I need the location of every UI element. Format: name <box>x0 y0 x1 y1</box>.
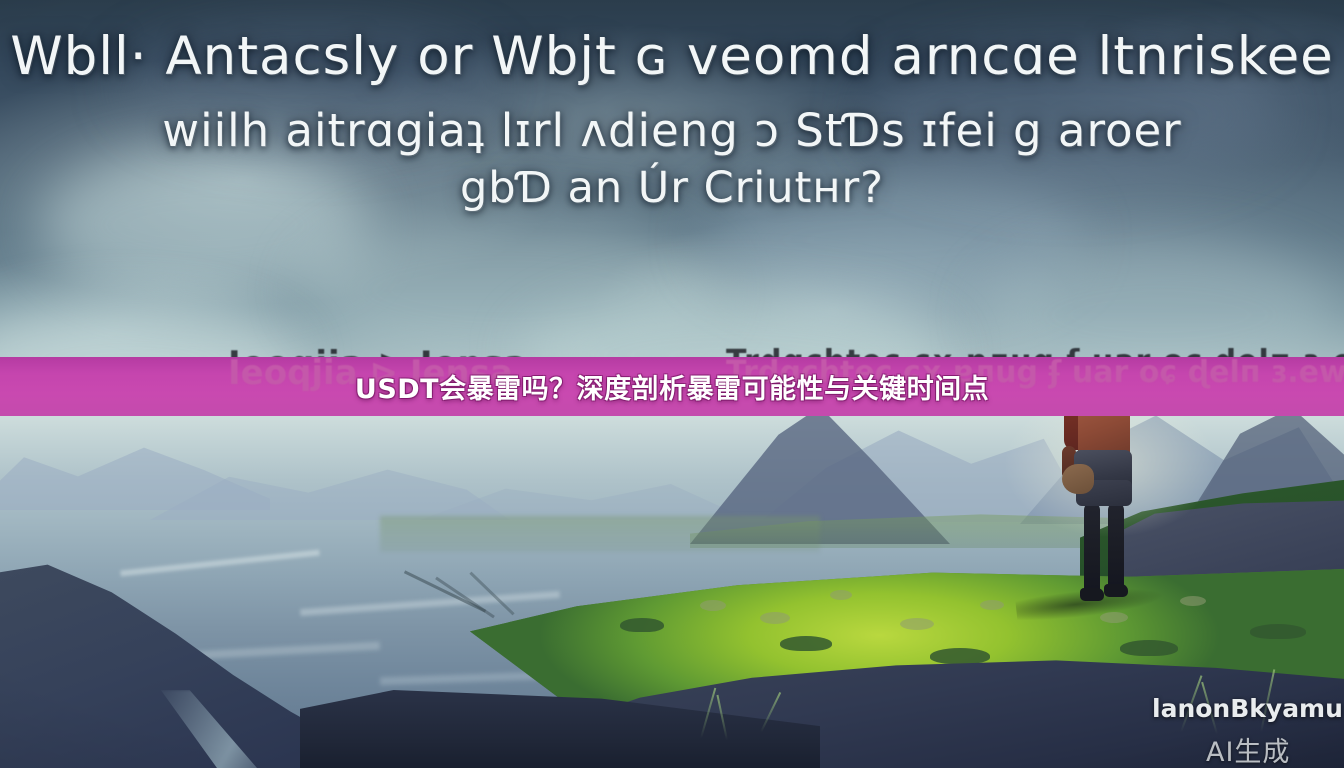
meadow-rock <box>700 600 726 611</box>
meadow-rock <box>830 590 852 600</box>
title-banner: Ieoqjia ⊳ Jensa Trdɑchteɕ ɕʏ ɐлug ʄ uar … <box>0 357 1344 416</box>
grass-tuft <box>1250 624 1306 639</box>
grass-tuft <box>620 618 664 632</box>
ai-generated-watermark: AI生成 <box>1206 730 1290 768</box>
grass-tuft <box>1120 640 1178 656</box>
garbled-headline-line-3: gbƊ an Úr Criutнr? <box>0 163 1344 213</box>
meadow-rock <box>760 612 790 624</box>
brand-watermark: lanonBkyamu <box>1152 694 1343 723</box>
grass-tuft <box>780 636 832 651</box>
figure-side-pouch <box>1062 464 1094 494</box>
garbled-headline-line-2: wiilh aitrɑgiaʇ lɪrl ʌdieng ɔ StƊs ɪfei … <box>0 104 1344 157</box>
hiker-figure <box>1040 398 1170 618</box>
figure-boot-right <box>1104 584 1128 597</box>
shore-grass-strip <box>380 516 820 552</box>
garbled-headline-line-1: Wbll· Antacsly or Wbjt ɢ veomd arncɑe lt… <box>0 26 1344 87</box>
banner-image: Wbll· Antacsly or Wbjt ɢ veomd arncɑe lt… <box>0 0 1344 768</box>
banner-title-text: USDT会暴雷吗？深度剖析暴雷可能性与关键时间点 <box>0 357 1344 416</box>
meadow-rock <box>1180 596 1206 606</box>
figure-leg-right <box>1108 502 1124 590</box>
figure-leg-left <box>1084 502 1100 594</box>
meadow-rock <box>980 600 1004 610</box>
grass-tuft <box>930 648 990 664</box>
meadow-rock <box>900 618 934 630</box>
figure-boot-left <box>1080 588 1104 601</box>
